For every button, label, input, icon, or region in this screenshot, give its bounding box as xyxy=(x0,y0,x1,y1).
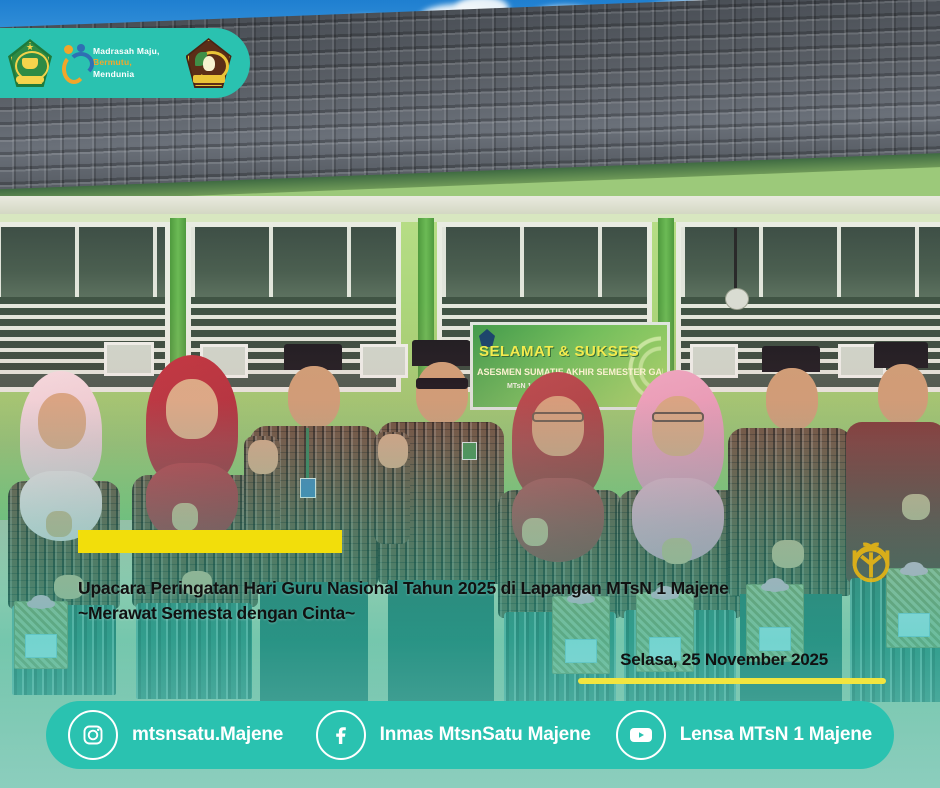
gift-tag xyxy=(898,613,930,637)
person xyxy=(846,346,940,702)
person xyxy=(498,350,624,700)
face xyxy=(38,393,86,449)
ribbon-bow xyxy=(31,595,51,609)
tagline-line1: Madrasah Maju, xyxy=(93,46,160,57)
sunglasses xyxy=(416,378,468,389)
instagram-icon[interactable] xyxy=(68,710,118,760)
id-badge xyxy=(300,478,316,498)
facebook-page-name: Inmas MtsnSatu Majene xyxy=(380,724,591,746)
kemenag-pentagon-logo: ★ xyxy=(8,39,52,87)
hanging-wire xyxy=(734,228,737,290)
social-item-facebook[interactable]: Inmas MtsnSatu Majene xyxy=(316,710,591,760)
person xyxy=(728,346,854,702)
social-item-youtube[interactable]: Lensa MTsN 1 Majene xyxy=(616,710,872,760)
youtube-icon[interactable] xyxy=(616,710,666,760)
madrasah-tagline: Madrasah Maju, Bermutu, Mendunia xyxy=(62,44,160,82)
poster-canvas: SELAMAT & SUKSES ASESMEN SUMATIF AKHIR S… xyxy=(0,0,940,788)
hand xyxy=(662,538,692,564)
mtsn-majene-watermark-logo xyxy=(842,533,900,591)
tagline-line3: Mendunia xyxy=(93,69,160,80)
batik-uniform xyxy=(728,428,852,596)
lanyard xyxy=(306,428,309,482)
top-logo-badge: ★ Madrasah Maju, Bermutu, Mendunia xyxy=(0,28,250,98)
hand-thumbs-up xyxy=(172,503,198,531)
person xyxy=(6,363,126,693)
caption-line-2: ~Merawat Semesta dengan Cinta~ xyxy=(78,601,878,626)
facebook-icon[interactable] xyxy=(316,710,366,760)
hand-thumbs-up xyxy=(46,511,72,537)
gift-tag xyxy=(759,627,791,651)
face xyxy=(532,396,584,456)
face xyxy=(652,396,704,456)
person xyxy=(250,344,380,700)
hand xyxy=(772,540,804,568)
hand-thumbs-up xyxy=(522,518,548,546)
instagram-handle: mtsnsatu.Majene xyxy=(132,724,283,746)
caption-line-1: Upacara Peringatan Hari Guru Nasional Ta… xyxy=(78,578,729,598)
madrasah-maju-icon xyxy=(62,44,88,82)
madrasah-pentagon-logo xyxy=(186,38,232,88)
event-date: Selasa, 25 November 2025 xyxy=(620,650,828,670)
gift-tag xyxy=(565,639,597,663)
hand xyxy=(902,494,930,520)
person xyxy=(376,342,504,702)
yellow-accent-bar xyxy=(78,530,342,553)
face xyxy=(288,366,340,428)
gift-tag xyxy=(25,634,57,658)
face xyxy=(416,362,468,424)
social-item-instagram[interactable]: mtsnsatu.Majene xyxy=(68,710,283,760)
wall-speaker xyxy=(725,288,749,310)
face xyxy=(766,368,818,430)
face xyxy=(878,364,928,424)
face xyxy=(166,379,218,439)
eyeglasses xyxy=(652,412,704,422)
person xyxy=(618,352,744,700)
chest-emblem xyxy=(462,442,477,460)
person xyxy=(130,353,260,698)
youtube-channel-name: Lensa MTsN 1 Majene xyxy=(680,724,872,746)
caption-block: Upacara Peringatan Hari Guru Nasional Ta… xyxy=(78,576,878,627)
gift-bag xyxy=(14,601,68,669)
tagline-line2: Bermutu, xyxy=(93,57,160,68)
wall-trim xyxy=(0,214,940,222)
hand-thumbs-up xyxy=(248,440,278,474)
hand-thumbs-up xyxy=(378,434,408,468)
date-underline xyxy=(578,678,886,684)
tagline-text: Madrasah Maju, Bermutu, Mendunia xyxy=(93,46,160,80)
ribbon-bow xyxy=(904,562,924,576)
eyeglasses xyxy=(532,412,584,422)
social-media-bar: mtsnsatu.Majene Inmas MtsnSatu Majene Le… xyxy=(46,701,894,769)
